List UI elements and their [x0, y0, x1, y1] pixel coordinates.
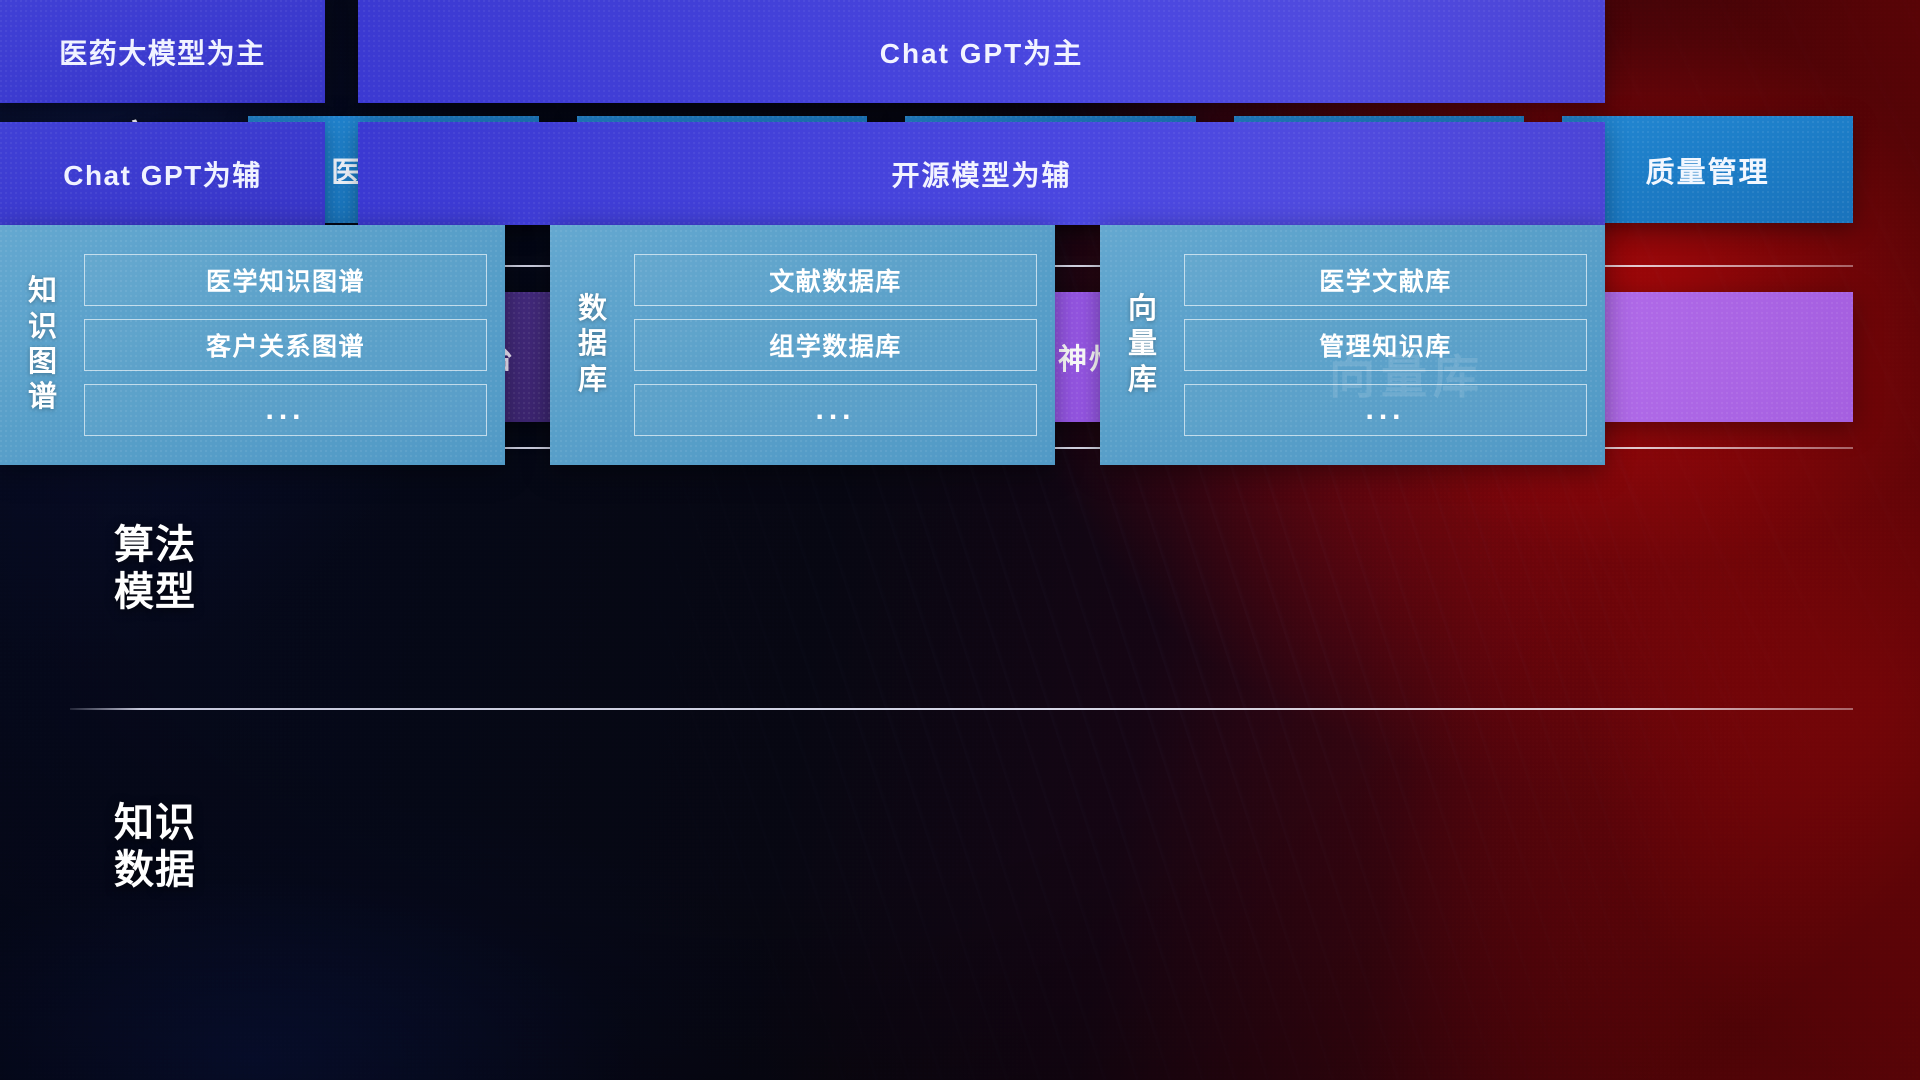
- algo-box-label: 医药大模型为主: [59, 32, 266, 72]
- knowledge-item-label: 医学文献库: [1319, 262, 1452, 298]
- knowledge-panel-title: 向量库: [1116, 292, 1170, 398]
- knowledge-panel-items: 医学文献库 管理知识库 ...: [1184, 254, 1587, 436]
- knowledge-item-label: ...: [1365, 393, 1405, 427]
- algo-box-label: Chat GPT为辅: [63, 154, 262, 194]
- algo-box-opensource-model-secondary[interactable]: 开源模型为辅: [358, 122, 1605, 225]
- algorithm-models-row: 医药大模型为主 Chat GPT为主 Chat GPT为辅 开源模型为辅: [0, 0, 1605, 225]
- algo-box-chatgpt-primary[interactable]: Chat GPT为主: [358, 0, 1605, 103]
- knowledge-item-management-knowledge-store[interactable]: 管理知识库: [1184, 319, 1587, 371]
- algorithm-models-line-primary: 医药大模型为主 Chat GPT为主: [0, 0, 1605, 103]
- algo-box-chatgpt-secondary[interactable]: Chat GPT为辅: [0, 122, 325, 225]
- algorithm-models-line-secondary: Chat GPT为辅 开源模型为辅: [0, 122, 1605, 225]
- architecture-diagram: 应用 场景 医药研发 医学事务 企业知识 效能工具 质量管理 MaaS 医药研发…: [0, 0, 1920, 1080]
- knowledge-item-label: ...: [265, 393, 305, 427]
- knowledge-item-literature-database[interactable]: 文献数据库: [634, 254, 1037, 306]
- knowledge-item-medical-knowledge-graph[interactable]: 医学知识图谱: [84, 254, 487, 306]
- app-box-label: 质量管理: [1646, 149, 1770, 191]
- knowledge-item-label: ...: [815, 393, 855, 427]
- knowledge-item-more[interactable]: ...: [84, 384, 487, 436]
- knowledge-item-more[interactable]: ...: [634, 384, 1037, 436]
- knowledge-panel-database[interactable]: 数据库 文献数据库 组学数据库 ...: [550, 225, 1055, 465]
- knowledge-item-label: 文献数据库: [769, 262, 902, 298]
- divider-line-3: [70, 708, 1853, 710]
- knowledge-item-more[interactable]: ...: [1184, 384, 1587, 436]
- knowledge-item-label: 管理知识库: [1319, 327, 1452, 363]
- knowledge-item-label: 客户关系图谱: [206, 327, 365, 363]
- knowledge-item-label: 组学数据库: [769, 327, 902, 363]
- knowledge-item-omics-database[interactable]: 组学数据库: [634, 319, 1037, 371]
- knowledge-panel-items: 文献数据库 组学数据库 ...: [634, 254, 1037, 436]
- knowledge-panel-title: 数据库: [566, 292, 620, 398]
- algo-box-label: 开源模型为辅: [891, 154, 1071, 194]
- algo-box-pharma-large-model-primary[interactable]: 医药大模型为主: [0, 0, 325, 103]
- knowledge-data-row: 知识图谱 医学知识图谱 客户关系图谱 ... 数据库 文献数据库: [0, 225, 1605, 465]
- tier-label-knowledge-data: 知识 数据: [75, 800, 235, 894]
- knowledge-item-label: 医学知识图谱: [206, 262, 365, 298]
- knowledge-item-customer-relation-graph[interactable]: 客户关系图谱: [84, 319, 487, 371]
- knowledge-panel-items: 医学知识图谱 客户关系图谱 ...: [84, 254, 487, 436]
- knowledge-panel-title: 知识图谱: [16, 274, 70, 416]
- algo-box-label: Chat GPT为主: [880, 32, 1084, 72]
- tier-label-algorithm-models: 算法 模型: [75, 522, 235, 616]
- app-box-quality-management[interactable]: 质量管理: [1562, 116, 1853, 223]
- knowledge-item-medical-literature-store[interactable]: 医学文献库: [1184, 254, 1587, 306]
- knowledge-panel-vector-store[interactable]: 向量库 向量库 医学文献库 管理知识库 ...: [1100, 225, 1605, 465]
- knowledge-panel-knowledge-graph[interactable]: 知识图谱 医学知识图谱 客户关系图谱 ...: [0, 225, 505, 465]
